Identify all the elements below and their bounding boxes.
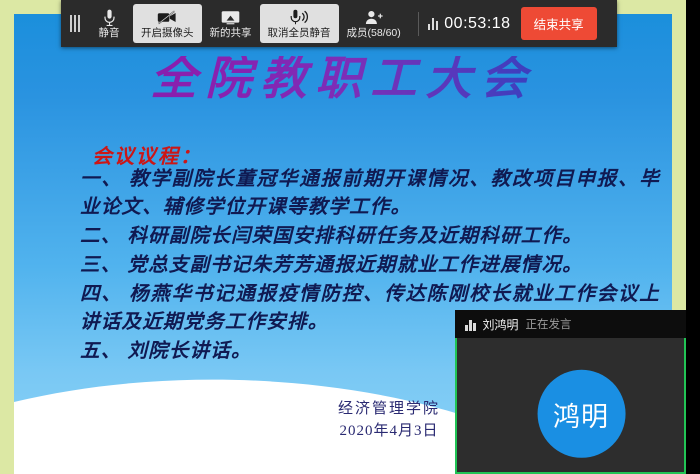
mute-button[interactable]: 静音 bbox=[85, 4, 133, 43]
footer-date: 2020年4月3日 bbox=[338, 420, 440, 442]
end-share-button[interactable]: 结束共享 bbox=[521, 7, 597, 40]
new-share-button-label: 新的共享 bbox=[210, 28, 252, 39]
toolbar-divider bbox=[418, 12, 419, 36]
start-video-button[interactable]: 开启摄像头 bbox=[133, 4, 202, 43]
audio-bars-icon bbox=[428, 17, 439, 30]
slide-title: 全院教职工大会 bbox=[14, 56, 672, 102]
avatar: 鸿明 bbox=[537, 370, 625, 458]
agenda-item-1: 一、 教学副院长董冠华通报前期开课情况、教改项目申报、毕业论文、辅修学位开课等教… bbox=[80, 166, 660, 222]
drag-handle[interactable] bbox=[65, 12, 85, 36]
meeting-timer: 00:53:18 bbox=[428, 15, 511, 33]
meeting-toolbar[interactable]: 静音 开启摄像头 新的共享 bbox=[61, 0, 617, 47]
share-screen-icon bbox=[221, 9, 240, 26]
speaker-video-panel[interactable]: 刘鸿明 正在发言 鸿明 bbox=[455, 310, 686, 474]
microphone-icon bbox=[103, 9, 116, 26]
participants-button[interactable]: 成员(58/60) bbox=[339, 4, 409, 43]
unmute-all-button-label: 取消全员静音 bbox=[268, 28, 331, 39]
agenda-item-3: 三、 党总支副书记朱芳芳通报近期就业工作进展情况。 bbox=[80, 252, 660, 280]
start-video-button-label: 开启摄像头 bbox=[141, 28, 194, 39]
participants-button-label: 成员(58/60) bbox=[347, 28, 401, 39]
speaker-status: 正在发言 bbox=[526, 316, 572, 332]
agenda-item-2: 二、 科研副院长闫荣国安排科研任务及近期科研工作。 bbox=[80, 223, 660, 251]
right-gutter bbox=[686, 0, 700, 474]
slide-footer: 经济管理学院 2020年4月3日 bbox=[338, 398, 440, 442]
camera-off-icon bbox=[157, 9, 177, 26]
unmute-all-button[interactable]: 取消全员静音 bbox=[260, 4, 339, 43]
meeting-timer-value: 00:53:18 bbox=[444, 15, 510, 33]
agenda-heading: 会议议程： bbox=[92, 140, 202, 169]
speaker-info-bar: 刘鸿明 正在发言 bbox=[455, 310, 686, 338]
screen-root: 全院教职工大会 会议议程： 一、 教学副院长董冠华通报前期开课情况、教改项目申报… bbox=[0, 0, 700, 474]
speaker-video-stage[interactable]: 鸿明 bbox=[455, 338, 686, 474]
footer-organization: 经济管理学院 bbox=[338, 398, 440, 420]
mute-button-label: 静音 bbox=[99, 28, 120, 39]
new-share-button[interactable]: 新的共享 bbox=[202, 4, 260, 43]
participants-icon bbox=[365, 9, 383, 26]
audio-bars-icon bbox=[465, 318, 476, 331]
speaker-name: 刘鸿明 bbox=[483, 316, 519, 333]
unmute-all-icon bbox=[290, 9, 309, 26]
